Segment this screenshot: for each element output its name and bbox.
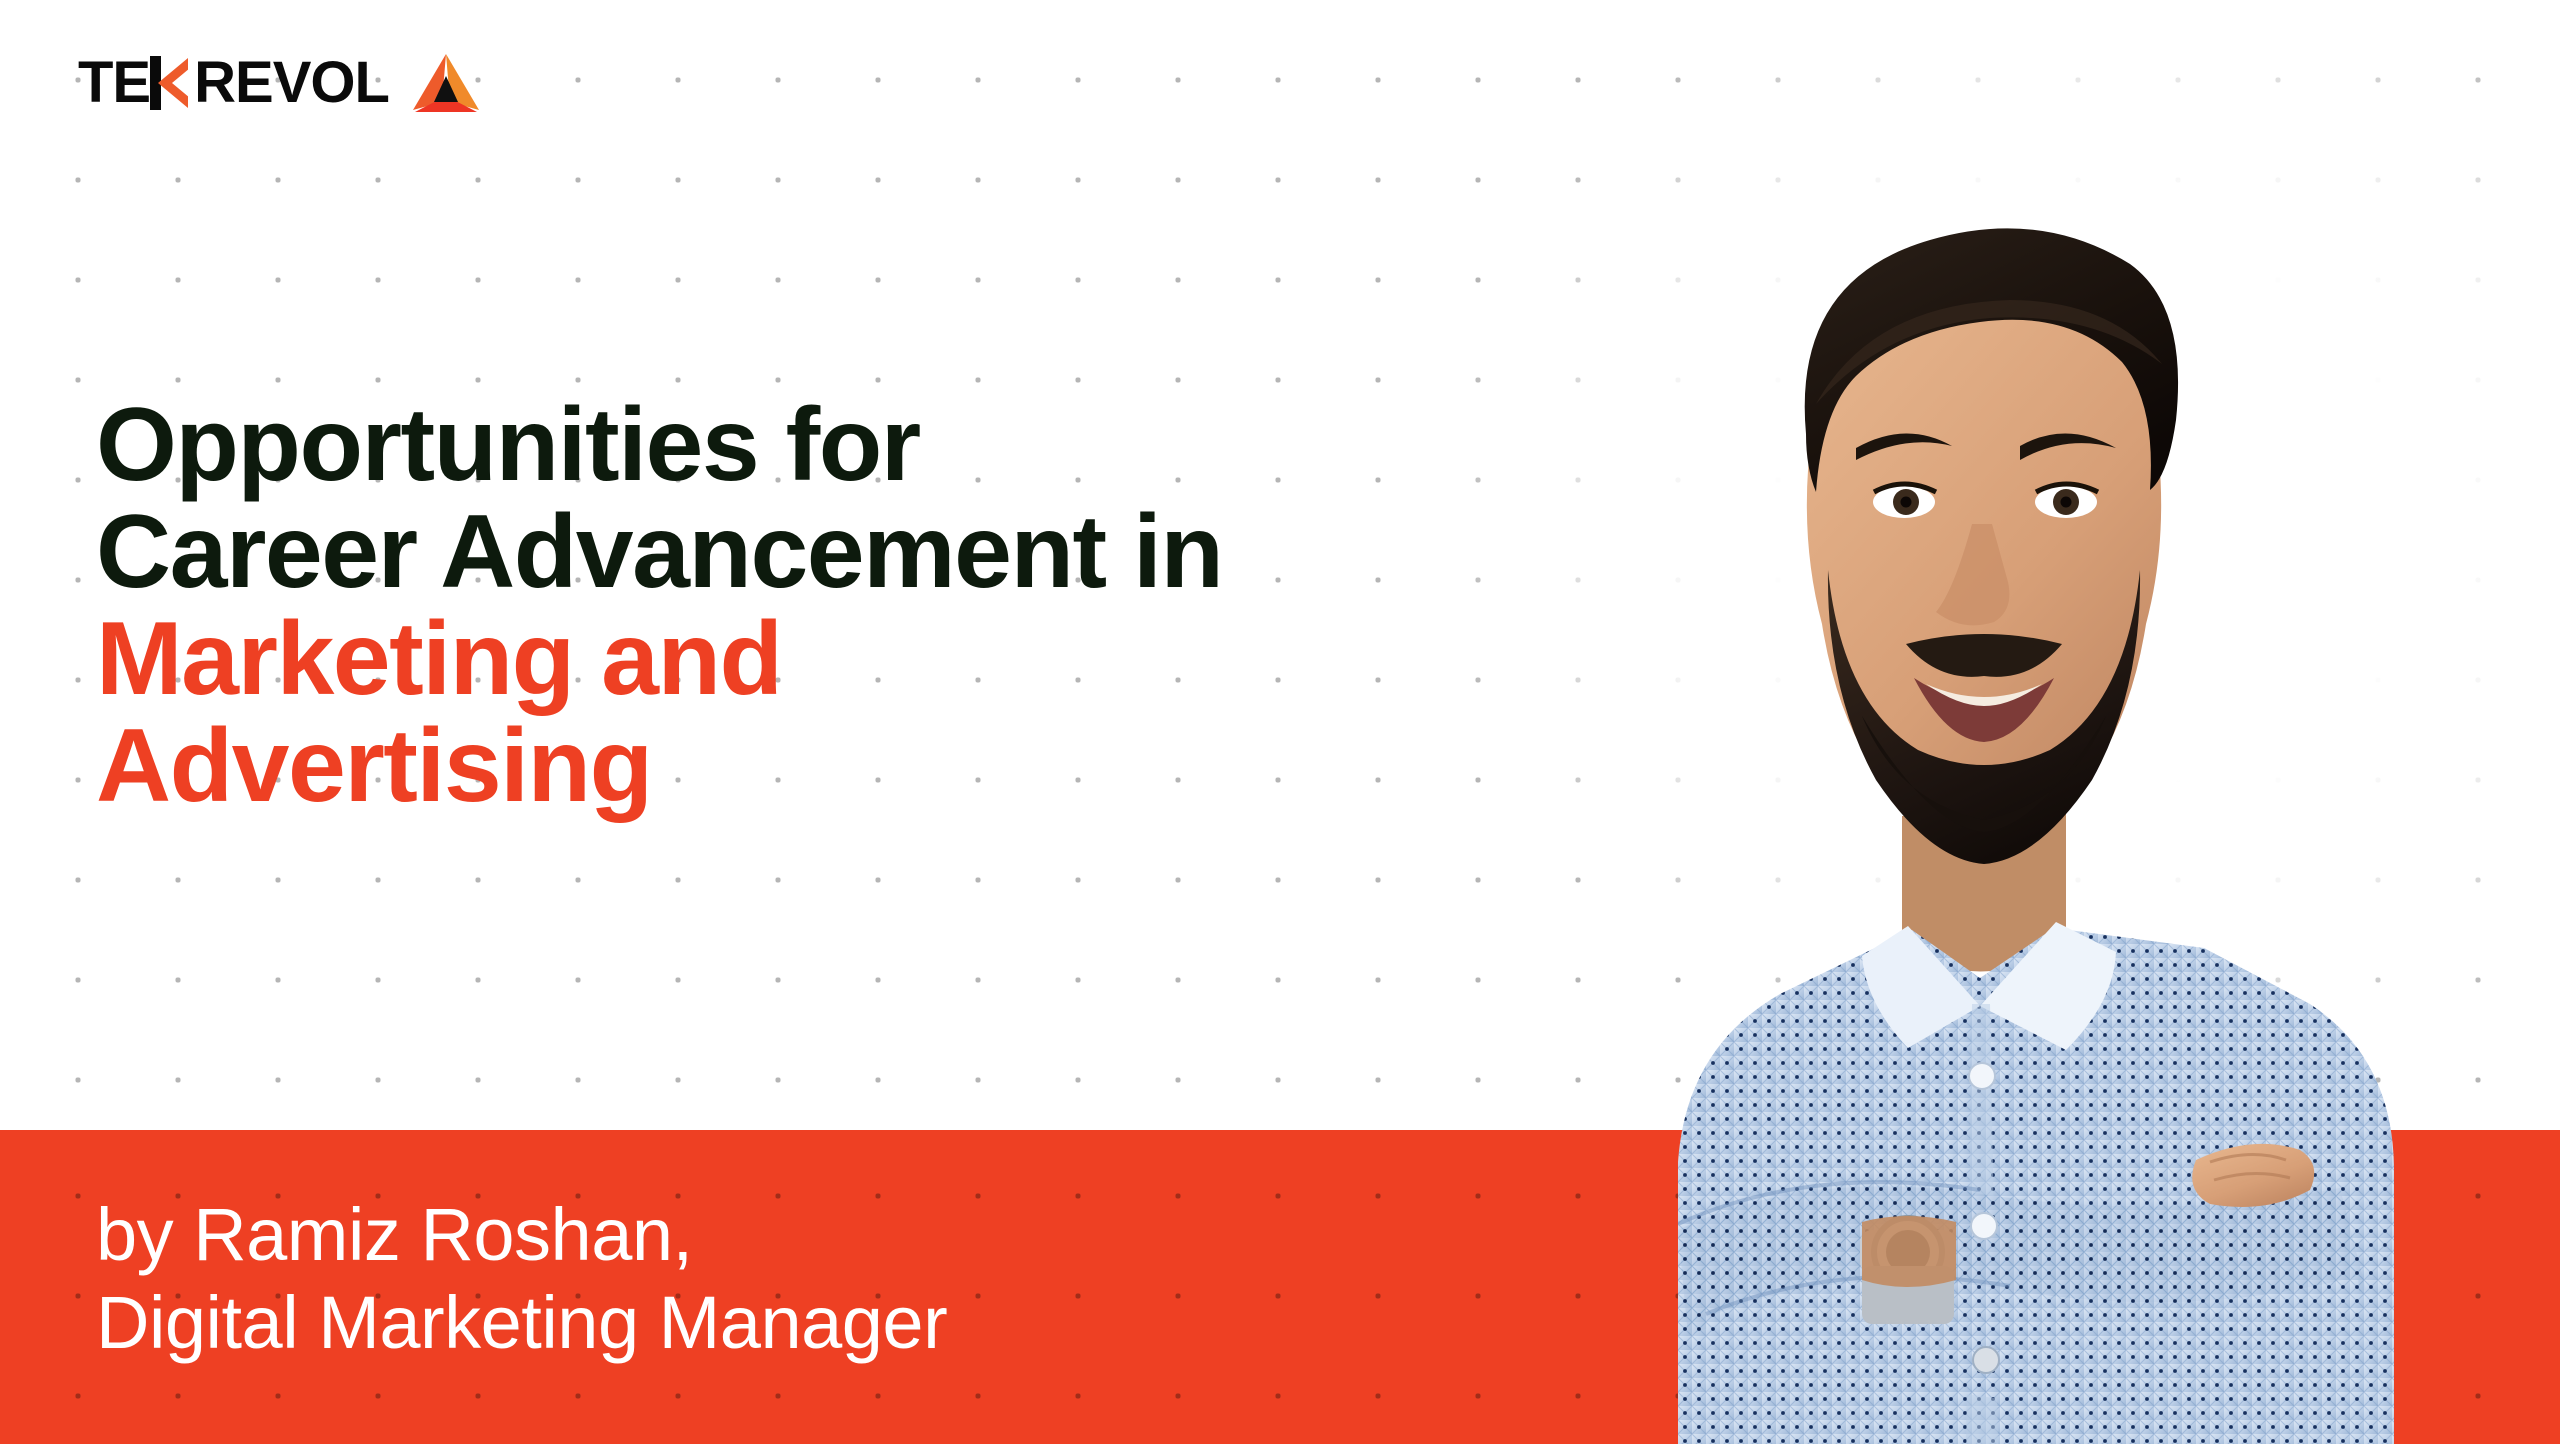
headline-line-3: Marketing and [96, 606, 1222, 713]
logo-text-left: TE [78, 54, 150, 112]
logo-wordmark: TE REVOL [78, 54, 389, 112]
headline-line-2: Career Advancement in [96, 499, 1222, 606]
logo-text-right: REVOL [194, 54, 389, 112]
headline-line-4: Advertising [96, 713, 1222, 820]
tekrevol-logo[interactable]: TE REVOL [78, 52, 483, 114]
page-title: Opportunities for Career Advancement in … [96, 392, 1222, 820]
tekrevol-triangle-mark-icon [409, 52, 483, 114]
blog-hero-banner: TE REVOL Opportunities for Career Advanc… [0, 0, 2560, 1444]
logo-k-chevron [150, 54, 194, 112]
background-fade-overlay [1460, 0, 2560, 1130]
byline-author-name: by Ramiz Roshan, [96, 1191, 947, 1278]
headline-line-1: Opportunities for [96, 392, 1222, 499]
author-byline: by Ramiz Roshan, Digital Marketing Manag… [96, 1191, 947, 1366]
byline-author-role: Digital Marketing Manager [96, 1279, 947, 1366]
